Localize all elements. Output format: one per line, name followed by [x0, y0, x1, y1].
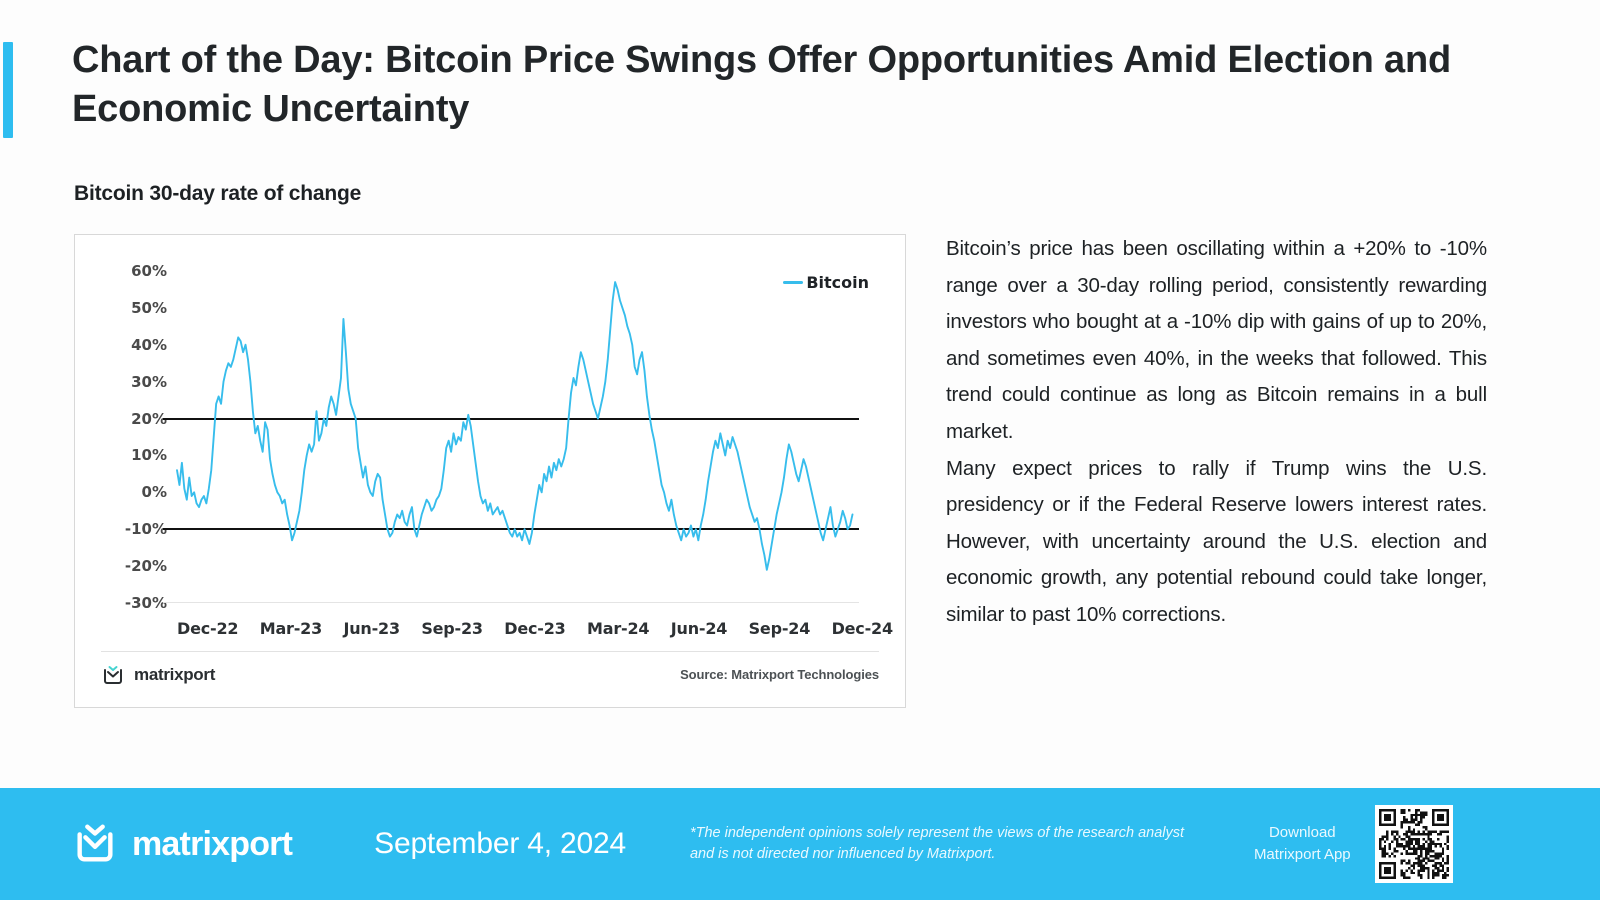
chart-brand: matrixport: [101, 663, 215, 687]
bitcoin-series-line: [177, 271, 877, 603]
x-tick-dec-22: Dec-22: [177, 619, 238, 638]
chart-inner: Bitcoin 60%50%40%30%20%10%0%-10%-20%-30%…: [75, 235, 905, 707]
qr-code[interactable]: [1375, 805, 1453, 883]
y-tick-neg30: -30%: [125, 594, 167, 612]
download-line-2: Matrixport App: [1254, 844, 1351, 866]
x-tick-jun-24: Jun-24: [671, 619, 727, 638]
chart-footer: matrixport Source: Matrixport Technologi…: [101, 651, 879, 685]
x-tick-mar-23: Mar-23: [260, 619, 322, 638]
footer-brand-text: matrixport: [132, 825, 292, 864]
y-tick-40: 40%: [131, 336, 167, 354]
x-tick-sep-24: Sep-24: [749, 619, 811, 638]
footer-date: September 4, 2024: [374, 827, 626, 861]
y-tick-60: 60%: [131, 262, 167, 280]
chart-plot-area: 60%50%40%30%20%10%0%-10%-20%-30%: [177, 271, 877, 603]
x-tick-mar-24: Mar-24: [587, 619, 649, 638]
footer-download-text: Download Matrixport App: [1254, 822, 1351, 866]
x-tick-dec-24: Dec-24: [832, 619, 893, 638]
y-tick-30: 30%: [131, 373, 167, 391]
x-tick-sep-23: Sep-23: [421, 619, 483, 638]
page-title: Chart of the Day: Bitcoin Price Swings O…: [72, 36, 1472, 133]
chart-card: Bitcoin 60%50%40%30%20%10%0%-10%-20%-30%…: [74, 234, 906, 708]
y-tick-20: 20%: [131, 410, 167, 428]
y-tick-neg10: -10%: [125, 520, 167, 538]
x-axis-ticks: Dec-22Mar-23Jun-23Sep-23Dec-23Mar-24Jun-…: [177, 619, 893, 638]
commentary-paragraph-1: Bitcoin’s price has been oscillating wit…: [946, 231, 1487, 451]
title-accent-bar: [3, 42, 13, 138]
chart-source-note: Source: Matrixport Technologies: [680, 667, 879, 682]
commentary-column: Bitcoin’s price has been oscillating wit…: [946, 231, 1487, 634]
commentary-paragraph-2: Many expect prices to rally if Trump win…: [946, 451, 1487, 634]
matrixport-logo-icon: [101, 663, 125, 687]
slide-root: Chart of the Day: Bitcoin Price Swings O…: [0, 0, 1600, 900]
chart-brand-text: matrixport: [134, 665, 215, 685]
y-tick-10: 10%: [131, 446, 167, 464]
y-tick-50: 50%: [131, 299, 167, 317]
x-tick-dec-23: Dec-23: [504, 619, 565, 638]
y-tick-0: 0%: [142, 483, 167, 501]
matrixport-logo-icon: [72, 821, 118, 867]
download-line-1: Download: [1254, 822, 1351, 844]
x-tick-jun-23: Jun-23: [343, 619, 399, 638]
qr-code-image: [1379, 809, 1449, 879]
y-tick-neg20: -20%: [125, 557, 167, 575]
footer-brand: matrixport: [72, 821, 292, 867]
chart-subtitle: Bitcoin 30-day rate of change: [74, 182, 361, 206]
footer-disclaimer: *The independent opinions solely represe…: [690, 823, 1210, 865]
footer-bar: matrixport September 4, 2024 *The indepe…: [0, 788, 1600, 900]
